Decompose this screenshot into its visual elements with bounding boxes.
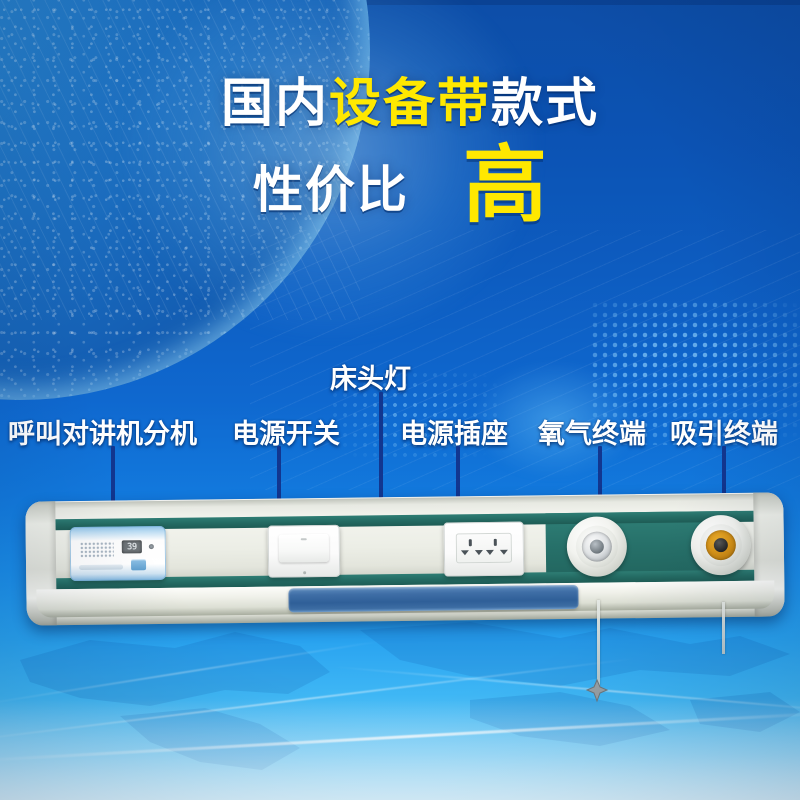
cord-pull-handle-icon[interactable] (584, 678, 610, 704)
socket-pin-icon (461, 550, 469, 555)
power-socket[interactable] (444, 522, 525, 577)
callout-power-switch: 电源开关 (232, 412, 340, 451)
callout-oxygen-terminal: 氧气终端 (538, 412, 646, 451)
switch-marker-icon (301, 538, 307, 540)
intercom-call-button[interactable] (131, 559, 146, 570)
switch-rocker[interactable] (279, 534, 329, 563)
socket-pin-icon (475, 550, 483, 555)
speaker-grille-icon (80, 542, 114, 558)
intercom-slot (79, 564, 123, 570)
callout-bed-lamp: 床头灯 (330, 357, 411, 396)
socket-pin-icon (486, 550, 494, 555)
suction-hose-cord (722, 602, 725, 654)
status-led-icon (149, 544, 154, 549)
power-switch[interactable] (268, 525, 341, 578)
socket-pin-icon (500, 550, 508, 555)
socket-face (456, 533, 512, 564)
nurse-call-intercom[interactable]: 39 (70, 526, 167, 581)
callout-nurse-call-intercom: 呼叫对讲机分机 (8, 412, 197, 451)
oxygen-hose-cord (597, 600, 600, 686)
bottom-light-haze (0, 700, 800, 800)
switch-screw-icon (303, 571, 306, 574)
socket-pin-icon (469, 539, 472, 546)
bed-head-unit: 39 (25, 492, 784, 625)
terminal-core-icon (714, 538, 728, 552)
intercom-display: 39 (122, 540, 142, 553)
callout-power-socket: 电源插座 (400, 412, 508, 451)
socket-pin-icon (494, 539, 497, 546)
terminal-core-icon (590, 540, 604, 554)
bed-lamp-diffuser[interactable] (288, 585, 578, 613)
promo-banner: 国内设备带款式 性价比 高 呼叫对讲机分机 电源开关 床头灯 电源插座 氧气终端… (0, 0, 800, 800)
